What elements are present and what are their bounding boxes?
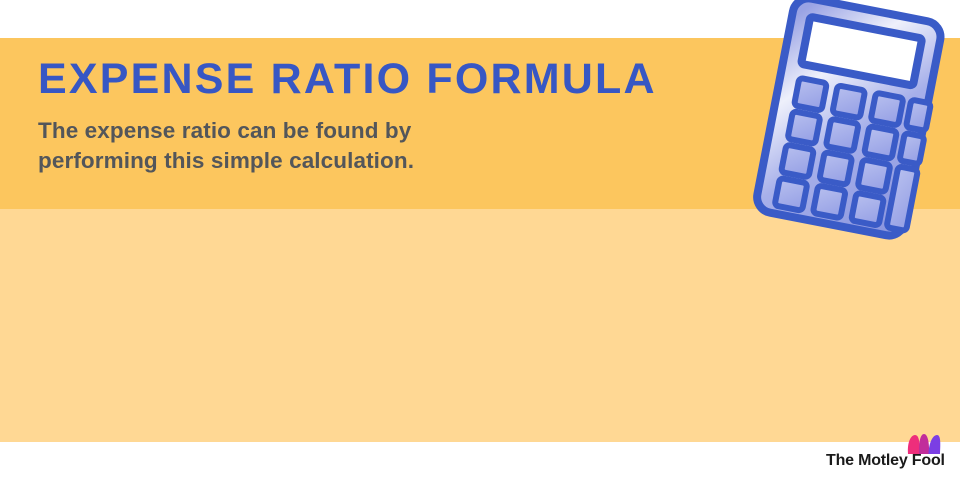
calculator-icon <box>744 0 954 246</box>
logo-text: The Motley Fool <box>826 452 945 470</box>
page-subtitle: The expense ratio can be found by perfor… <box>38 116 414 175</box>
formula-block: Expense Ratio Management Fees Total Inve… <box>0 236 960 426</box>
brand-logo: The Motley Fool <box>826 430 946 472</box>
infographic-canvas: EXPENSE RATIO FORMULA The expense ratio … <box>0 0 960 480</box>
page-title: EXPENSE RATIO FORMULA <box>38 58 657 101</box>
